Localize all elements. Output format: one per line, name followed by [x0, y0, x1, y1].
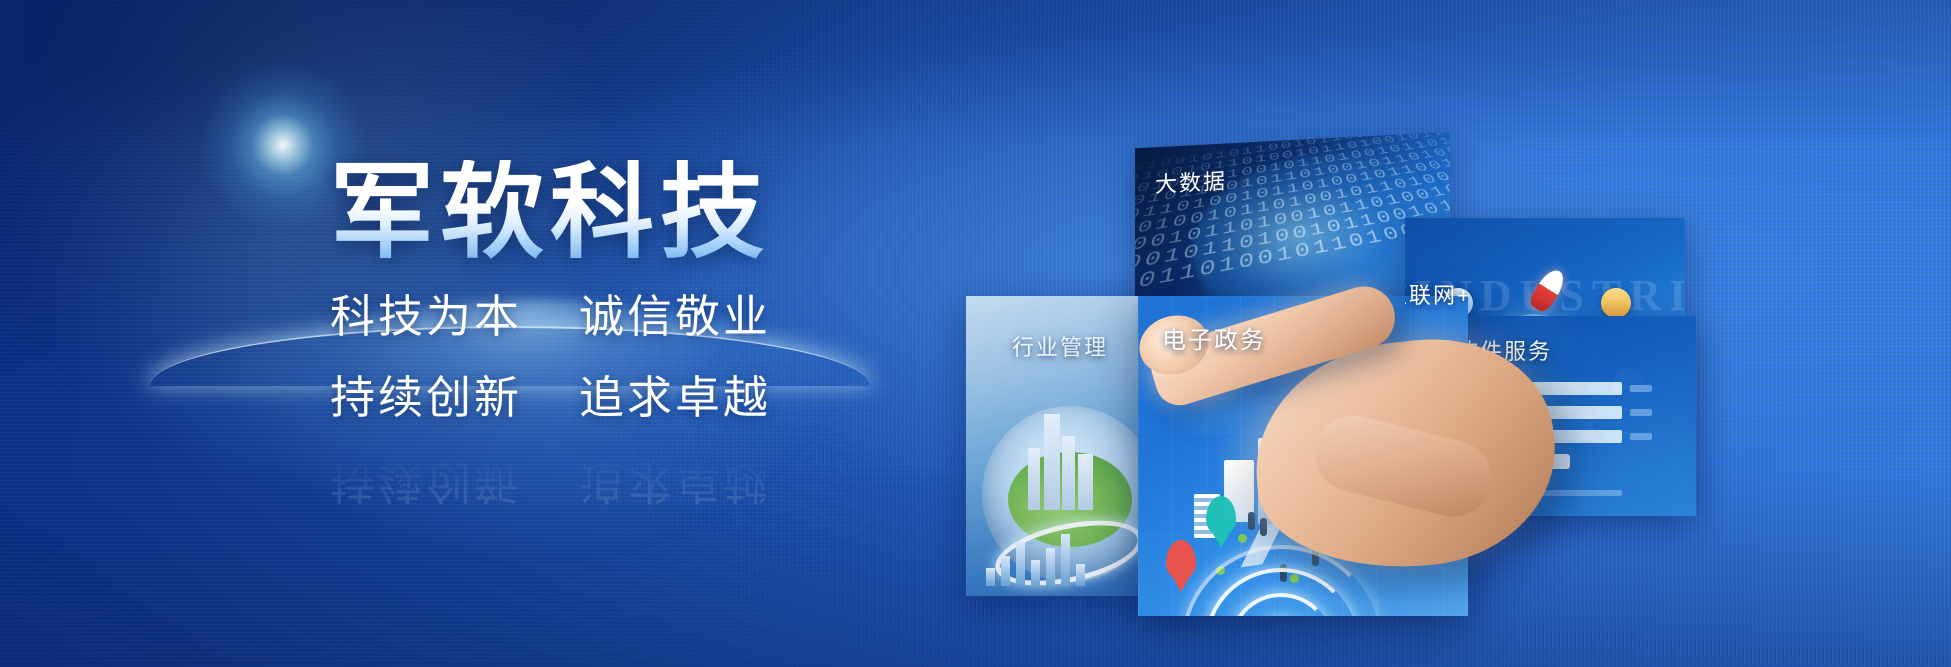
panel-label-e-government: 电子政务 — [1162, 320, 1266, 355]
tree-icon — [1238, 534, 1247, 543]
person-figure — [1372, 454, 1379, 472]
tree-icon — [1330, 516, 1339, 525]
building-shape — [1386, 496, 1412, 534]
form-row — [1472, 406, 1652, 419]
reflection-left: 持续创新 — [330, 457, 522, 508]
building-shape — [1290, 416, 1314, 524]
building-shape — [1356, 472, 1384, 524]
map-pin-icon — [1268, 384, 1298, 424]
building-shape — [1320, 446, 1350, 524]
map-pin-icon — [1206, 496, 1236, 536]
tagline-line-2: 持续创新 追求卓越 — [330, 369, 970, 428]
building-shape — [1062, 436, 1075, 510]
form-row — [1472, 382, 1652, 395]
tagline-line-1: 科技为本 诚信敬业 — [330, 288, 970, 347]
form-submit-button[interactable] — [1518, 454, 1570, 469]
banner-copy: 军软科技 科技为本 诚信敬业 持续创新 追求卓越 — [330, 160, 970, 427]
building-shape — [1044, 414, 1060, 510]
building-shape — [1078, 454, 1093, 510]
hero-banner: 军软科技 科技为本 诚信敬业 持续创新 追求卓越 持续创新 追求卓越 01001… — [0, 0, 1951, 667]
panel-label-industry-management: 行业管理 — [1012, 330, 1108, 362]
building-shape — [1028, 448, 1040, 510]
form-rows — [1472, 382, 1652, 469]
tagline-1-right: 诚信敬业 — [579, 291, 771, 342]
tagline-1-left: 科技为本 — [330, 291, 522, 342]
tagline-2-right: 追求卓越 — [579, 372, 771, 423]
person-figure — [1260, 518, 1267, 536]
isometric-smart-city — [1172, 388, 1452, 603]
signal-waves-icon — [1186, 550, 1376, 616]
tree-icon — [1368, 538, 1377, 547]
page-title: 军软科技 — [330, 160, 970, 266]
map-pin-icon — [1344, 408, 1374, 448]
tagline-reflection: 持续创新 追求卓越 — [330, 452, 771, 511]
network-node-icon — [1601, 288, 1631, 318]
panel-label-big-data: 大数据 — [1155, 163, 1227, 199]
form-footer-line — [1472, 490, 1622, 496]
panel-label-internet-plus: 互联网+ — [1405, 278, 1472, 310]
floating-panel-collage: 0100101100101011001011010010110100101101… — [980, 100, 1700, 530]
panel-e-government[interactable]: 电子政务 — [1138, 296, 1468, 616]
bar-chart-decoration — [986, 528, 1085, 586]
tagline-2-left: 持续创新 — [330, 372, 522, 423]
panel-software-service[interactable]: 软件服务 — [1428, 316, 1696, 516]
panel-label-software-service: 软件服务 — [1456, 334, 1552, 366]
building-shape — [1258, 438, 1284, 524]
form-row — [1472, 430, 1652, 443]
reflection-right: 追求卓越 — [579, 457, 771, 508]
person-figure — [1248, 512, 1255, 530]
